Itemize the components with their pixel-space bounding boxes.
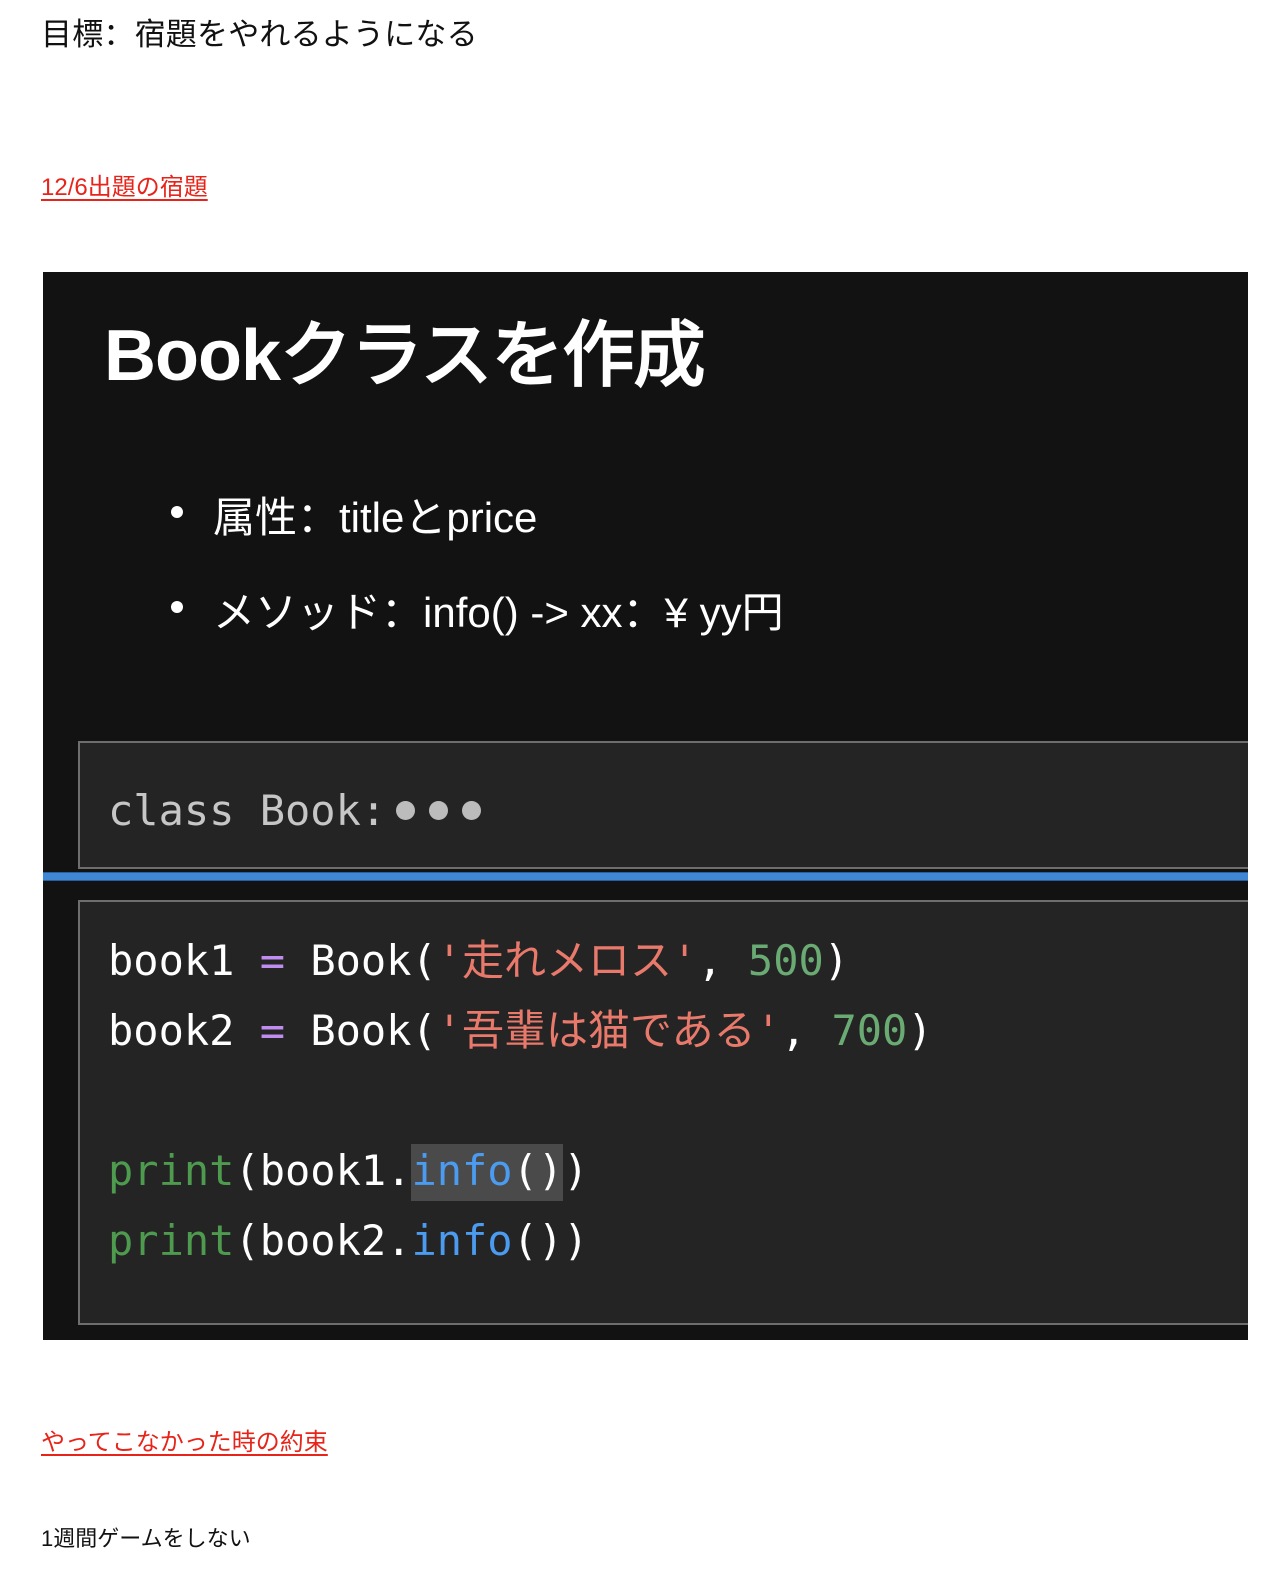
promise-link[interactable]: やってこなかった時の約束 bbox=[41, 1427, 328, 1458]
promise-body-text: 1週間ゲームをしない bbox=[41, 1524, 251, 1555]
code-paren-close: ) bbox=[563, 1216, 588, 1265]
code-object-ref: book1. bbox=[260, 1146, 412, 1195]
code-paren-open: ( bbox=[234, 1146, 259, 1195]
code-call-close: ) bbox=[907, 1006, 932, 1055]
code-number-literal: 700 bbox=[831, 1006, 907, 1055]
code-comma: , bbox=[781, 1006, 832, 1055]
code-var-name: book2 bbox=[108, 1006, 234, 1055]
ellipsis-dots-icon[interactable] bbox=[396, 785, 481, 827]
slide-bullet-list: 属性：titleとprice メソッド：info() -> xx：¥ yy円 bbox=[161, 484, 784, 674]
code-class-keyword: class Book: bbox=[108, 786, 386, 835]
code-selection-highlight: info() bbox=[411, 1144, 563, 1201]
code-string-literal: '吾輩は猫である' bbox=[437, 1006, 781, 1055]
slide-bullet-item: メソッド：info() -> xx：¥ yy円 bbox=[161, 579, 784, 640]
slide-bullet-item: 属性：titleとprice bbox=[161, 484, 784, 545]
slide-bullet-label: メソッド：info() -> xx：¥ yy円 bbox=[213, 589, 784, 636]
code-line-book2: book2 = Book('吾輩は猫である', 700) bbox=[108, 1010, 933, 1052]
slide-bullet-label: 属性：titleとprice bbox=[213, 494, 537, 541]
code-line-book1: book1 = Book('走れメロス', 500) bbox=[108, 940, 849, 982]
code-object-ref: book2. bbox=[260, 1216, 412, 1265]
code-operator: = bbox=[260, 936, 285, 985]
embedded-slide-screenshot: Bookクラスを作成 属性：titleとprice メソッド：info() ->… bbox=[43, 272, 1248, 1340]
code-line-print-book2: print(book2.info()) bbox=[108, 1220, 588, 1262]
slide-title: Bookクラスを作成 bbox=[104, 296, 705, 401]
blue-separator-rule bbox=[43, 872, 1248, 881]
code-line-print-book1: print(book1.info()) bbox=[108, 1150, 588, 1192]
code-method-name: info bbox=[411, 1216, 512, 1265]
code-method-name: info bbox=[411, 1146, 512, 1195]
code-call-open: Book( bbox=[285, 936, 437, 985]
code-call-open: Book( bbox=[285, 1006, 437, 1055]
code-call-close: ) bbox=[824, 936, 849, 985]
code-comma: , bbox=[697, 936, 748, 985]
code-function-name: print bbox=[108, 1216, 234, 1265]
code-pane-collapsed[interactable]: class Book: bbox=[78, 741, 1248, 869]
code-pane-main[interactable]: book1 = Book('走れメロス', 500) book2 = Book(… bbox=[78, 900, 1248, 1325]
code-var-name: book1 bbox=[108, 936, 234, 985]
code-function-name: print bbox=[108, 1146, 234, 1195]
code-operator: = bbox=[260, 1006, 285, 1055]
code-number-literal: 500 bbox=[748, 936, 824, 985]
code-string-literal: '走れメロス' bbox=[437, 936, 698, 985]
page-heading: 目標：宿題をやれるようになる bbox=[41, 14, 478, 56]
code-paren-close: ) bbox=[563, 1146, 588, 1195]
homework-link[interactable]: 12/6出題の宿題 bbox=[41, 172, 208, 203]
code-method-parens: () bbox=[513, 1146, 564, 1195]
code-method-parens: () bbox=[513, 1216, 564, 1265]
code-paren-open: ( bbox=[234, 1216, 259, 1265]
code-line-class-def: class Book: bbox=[108, 785, 481, 869]
